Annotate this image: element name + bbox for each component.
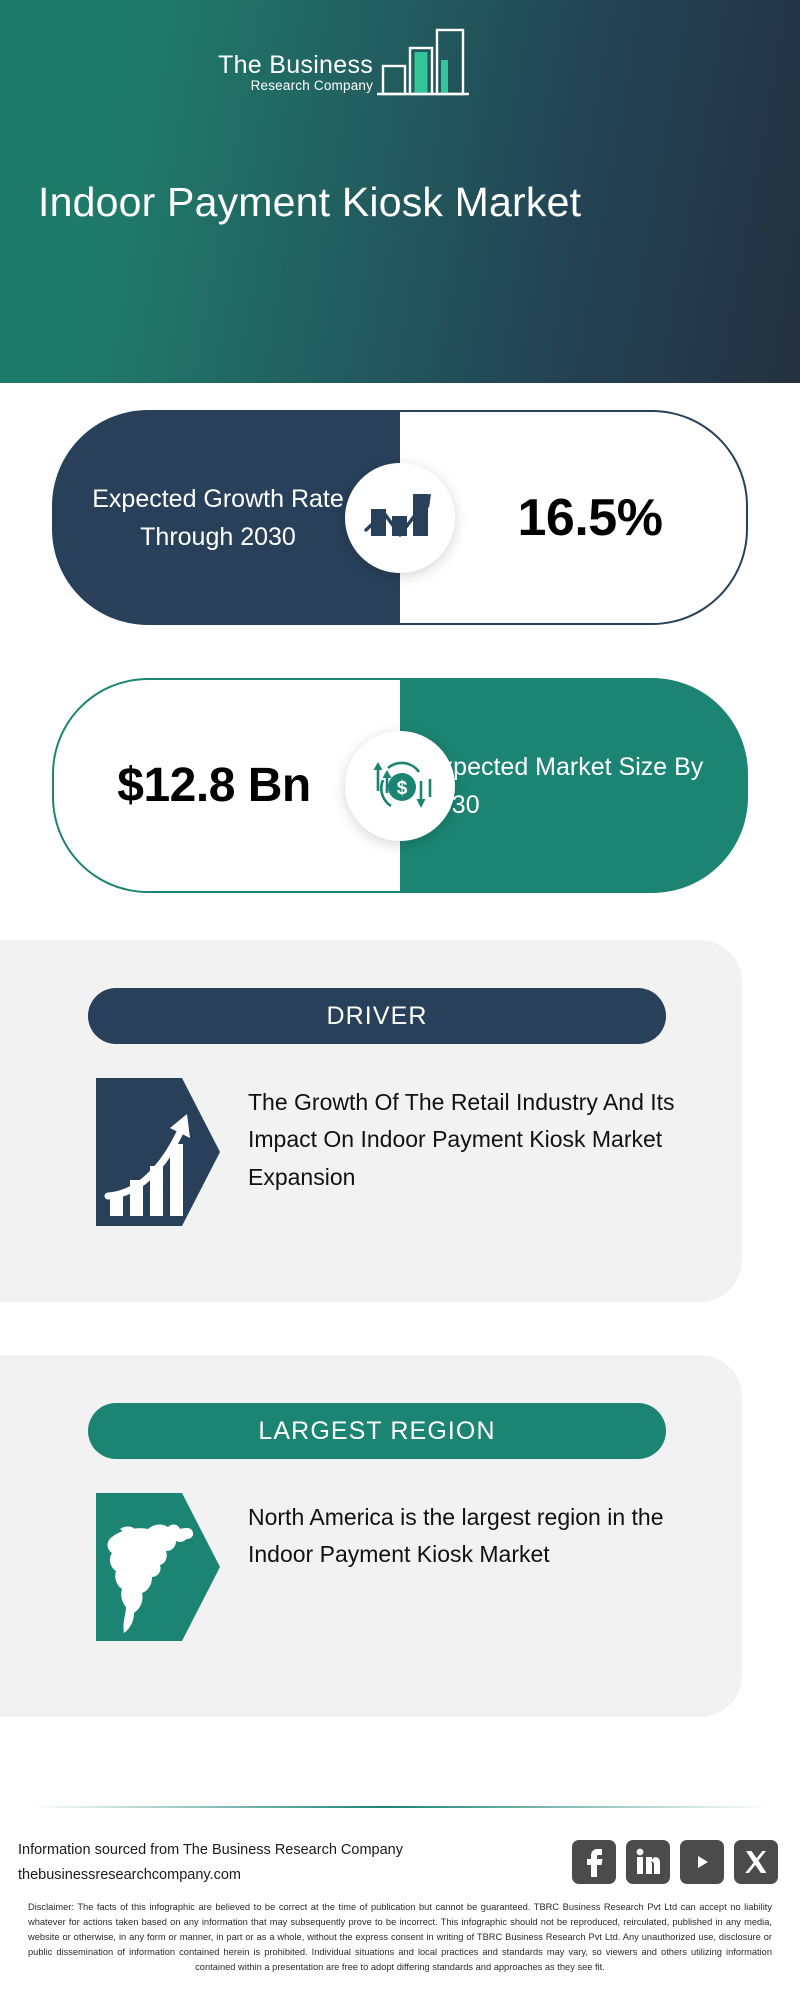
facebook-icon [582,1847,606,1877]
disclaimer-text: Disclaimer: The facts of this infographi… [28,1900,772,1975]
youtube-button[interactable] [680,1840,724,1884]
footer-website-url[interactable]: thebusinessresearchcompany.com [18,1863,403,1888]
footer-source-line-1: Information sourced from The Business Re… [18,1838,403,1863]
region-body-text: North America is the largest region in t… [248,1493,696,1574]
header-banner: The Business Research Company Indoor Pay… [0,0,800,383]
region-heading-pill: LARGEST REGION [88,1403,666,1459]
driver-body: The Growth Of The Retail Industry And It… [96,1078,696,1226]
footer-divider [30,1806,770,1808]
svg-text:$: $ [397,778,408,799]
rising-bar-chart-arrow-icon [96,1078,220,1226]
facebook-button[interactable] [572,1840,616,1884]
logo-line-2: Research Company [218,78,373,94]
infographic-page: The Business Research Company Indoor Pay… [0,0,800,2000]
stat-card-growth-rate: Expected Growth Rate Through 2030 16.5% [52,410,748,625]
company-logo: The Business Research Company [218,26,469,98]
driver-body-text: The Growth Of The Retail Industry And It… [248,1078,696,1196]
region-heading-label: LARGEST REGION [258,1417,495,1446]
stat-card-icon-bubble [345,463,455,573]
stat-card-icon-bubble: $ [345,731,455,841]
bar-chart-logo-icon [377,26,469,98]
stat-card-market-size: $12.8 Bn Expected Market Size By 2030 $ [52,678,748,893]
north-america-map-icon [96,1493,220,1641]
driver-panel: DRIVER The Growth Of The Retail Industry… [0,940,742,1302]
social-links [572,1840,778,1884]
largest-region-panel: LARGEST REGION North America is the larg… [0,1355,742,1717]
driver-heading-pill: DRIVER [88,988,666,1044]
stat-card-value: $12.8 Bn [117,758,336,813]
region-body: North America is the largest region in t… [96,1493,696,1641]
x-twitter-button[interactable] [734,1840,778,1884]
linkedin-button[interactable] [626,1840,670,1884]
footer-source: Information sourced from The Business Re… [18,1838,403,1889]
linkedin-icon [635,1848,661,1876]
youtube-icon [687,1851,717,1873]
dollar-circulation-icon: $ [363,749,437,823]
growth-chart-arrow-icon [362,485,438,551]
stat-card-value: 16.5% [484,488,663,548]
logo-line-1: The Business [218,52,373,78]
logo-wordmark: The Business Research Company [218,52,373,98]
x-twitter-icon [743,1849,769,1875]
driver-heading-label: DRIVER [326,1002,427,1031]
page-title: Indoor Payment Kiosk Market [38,178,762,226]
